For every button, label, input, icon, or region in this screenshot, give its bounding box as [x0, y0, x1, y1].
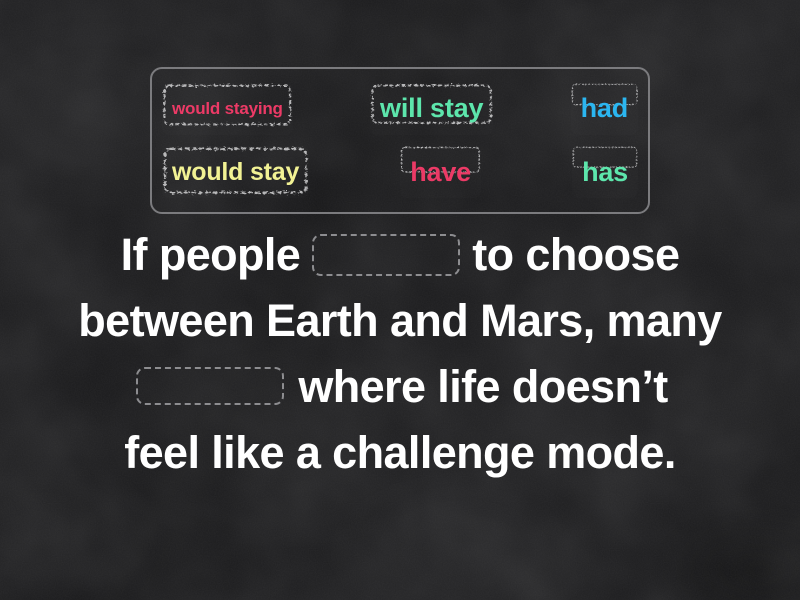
word-bank-row: would stay have	[162, 142, 638, 202]
sentence-line-2: between Earth and Mars, many	[0, 288, 800, 354]
word-tile-label: would staying	[172, 99, 283, 119]
sentence-line-1: If peopleto choose	[0, 222, 800, 288]
sentence-line-4: feel like a challenge mode.	[0, 420, 800, 486]
sentence-text-after-blank-2: where life doesn’t	[298, 361, 667, 412]
word-tile-label: would stay	[172, 158, 299, 187]
sentence-text-after-blank-1: to choose	[472, 229, 679, 280]
sentence-with-blanks: If peopleto choose between Earth and Mar…	[0, 222, 800, 486]
sentence-line-3: where life doesn’t	[0, 354, 800, 420]
word-tile-label: will stay	[380, 93, 483, 124]
word-tile-label: has	[582, 157, 628, 188]
word-tile-have[interactable]: have	[400, 146, 481, 198]
word-tile-has[interactable]: has	[572, 146, 638, 198]
word-tile-will-stay[interactable]: will stay	[370, 83, 493, 135]
word-tile-would-stay[interactable]: would stay	[162, 146, 309, 198]
word-tile-label: had	[581, 93, 628, 124]
blank-dropzone-1[interactable]	[312, 234, 460, 276]
word-tile-had[interactable]: had	[571, 83, 638, 135]
sentence-text-before-blank-1: If people	[121, 229, 301, 280]
word-tile-label: have	[410, 157, 471, 188]
word-bank-row: would staying will stay	[162, 79, 638, 139]
blank-dropzone-2[interactable]	[136, 367, 284, 405]
word-bank-panel: would staying will stay	[150, 67, 650, 214]
word-tile-would-staying[interactable]: would staying	[162, 83, 293, 135]
